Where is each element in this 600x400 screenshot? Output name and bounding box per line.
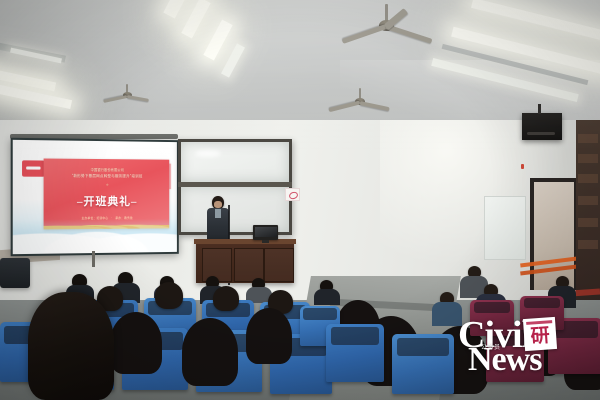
whiteboard: [178, 139, 292, 235]
doorway-opening: [534, 182, 574, 290]
lecturer-face: [214, 201, 222, 208]
slide-subtitle-1: 中国银行股份有限公司: [44, 168, 170, 173]
stage-chair: [0, 258, 30, 288]
slide-subtitle-3: ※: [44, 183, 170, 187]
lecturer: [206, 196, 230, 242]
ceiling-fan-2: [360, 88, 362, 90]
lecturer-shirt: [215, 209, 221, 218]
no-smoking-icon: [285, 188, 300, 201]
slide-cloud-graphic: [13, 219, 177, 255]
head-foreground: [110, 312, 162, 374]
head-foreground-longhair: [28, 292, 114, 400]
podium-monitor: [253, 225, 278, 240]
slide-subtitle-2: "新形势下基层网点转型与服务提升"培训班: [44, 174, 170, 179]
seat: [470, 300, 514, 336]
monitor-screen: [255, 227, 277, 238]
exit-doorway: [530, 178, 578, 290]
lectern-door-right: [234, 248, 264, 282]
head-foreground: [182, 318, 238, 386]
loudspeaker-icon: [522, 113, 562, 140]
seat: [392, 334, 454, 394]
seat: [520, 296, 564, 330]
head-foreground: [246, 308, 292, 364]
ceiling-fan-3: [127, 84, 129, 86]
presentation-slide: 中国银行股份有限公司 "新形势下基层网点转型与服务提升"培训班 ※ –开班典礼–…: [13, 140, 177, 254]
lectern-top: [194, 239, 296, 244]
whiteboard-glare: [195, 150, 221, 157]
slide-title: –开班典礼–: [44, 193, 170, 209]
whiteboard-upper-panel: [181, 142, 289, 182]
slide-logo-icon: [22, 160, 45, 176]
right-wall-column: [576, 120, 600, 310]
wall-indicator-light: [521, 164, 524, 169]
lecture-hall-photo: 中国银行股份有限公司 "新形势下基层网点转型与服务提升"培训班 ※ –开班典礼–…: [0, 0, 600, 400]
projection-screen: 中国银行股份有限公司 "新形势下基层网点转型与服务提升"培训班 ※ –开班典礼–…: [11, 138, 179, 256]
lectern-door-far: [264, 248, 294, 282]
screen-support-pole: [92, 251, 95, 267]
speaker-grille: [527, 132, 555, 135]
ceiling-fan-1: [386, 4, 388, 6]
seat: [326, 324, 384, 382]
wall-panel: [484, 196, 526, 260]
